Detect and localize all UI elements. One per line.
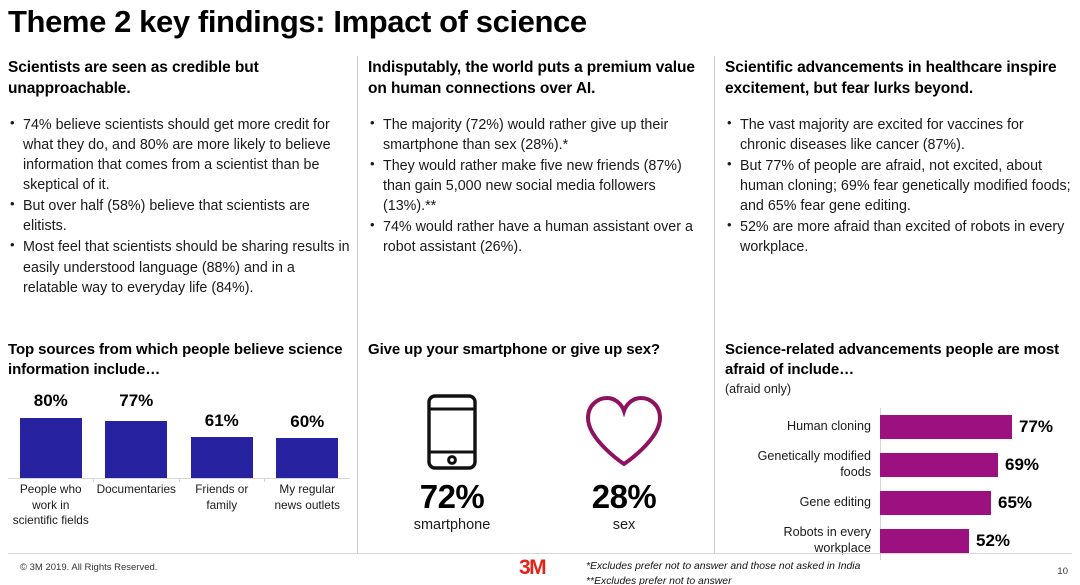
list-item: Most feel that scientists should be shar… (8, 237, 350, 297)
bar-track: 77% (880, 415, 1073, 439)
bar-value-label: 60% (265, 412, 351, 432)
bar-group: 80% (8, 392, 94, 478)
table-row: Robots in every workplace 52% (725, 522, 1073, 560)
bar-rect (880, 453, 998, 477)
column-2-heading: Indisputably, the world puts a premium v… (368, 58, 708, 100)
column-divider-1 (357, 56, 358, 553)
panel-most-afraid-subheading: (afraid only) (725, 381, 1073, 397)
bar-category-label: Gene editing (725, 495, 880, 511)
list-item: But 77% of people are afraid, not excite… (725, 156, 1073, 216)
column-1-bullet-list: 74% believe scientists should get more c… (8, 115, 350, 298)
column-2: Indisputably, the world puts a premium v… (368, 58, 708, 259)
panel-most-afraid: Science-related advancements people are … (725, 340, 1073, 560)
panel-smartphone-heading: Give up your smartphone or give up sex? (368, 340, 708, 360)
footnotes: *Excludes prefer not to answer and those… (586, 559, 860, 585)
page-number: 10 (1057, 566, 1068, 577)
bar-rect (880, 529, 969, 553)
icon-cell-smartphone: 72% smartphone (387, 392, 517, 533)
column-2-bullet-list: The majority (72%) would rather give up … (368, 115, 708, 258)
panel-most-afraid-heading: Science-related advancements people are … (725, 340, 1073, 380)
bar-value-label: 69% (1005, 455, 1039, 475)
footnote-2: **Excludes prefer not to answer (586, 574, 860, 585)
vertical-bar-chart: 80% 77% 61% 60% (8, 392, 350, 537)
bar-value-label: 61% (179, 411, 265, 431)
column-3-bullet-list: The vast majority are excited for vaccin… (725, 115, 1073, 258)
bar-value-label: 65% (998, 493, 1032, 513)
bar-category-label: Human cloning (725, 419, 880, 435)
bar-rect (105, 421, 167, 478)
smartphone-percent: 72% (387, 478, 517, 516)
footer-divider (8, 553, 1072, 554)
bar-rect (880, 415, 1012, 439)
table-row: Human cloning 77% (725, 408, 1073, 446)
brand-logo-3m: 3M (519, 556, 545, 580)
bar-rect (276, 438, 338, 478)
column-divider-2 (714, 56, 715, 553)
category-label: Friends or family (179, 482, 265, 530)
sex-label: sex (559, 517, 689, 533)
bar-track: 69% (880, 453, 1073, 477)
panel-top-sources-heading: Top sources from which people believe sc… (8, 340, 350, 380)
category-label: People who work in scientific fields (8, 482, 94, 530)
vertical-bar-plot: 80% 77% 61% 60% (8, 392, 350, 478)
smartphone-label: smartphone (387, 517, 517, 533)
list-item: They would rather make five new friends … (368, 156, 708, 216)
bar-value-label: 52% (976, 531, 1010, 551)
list-item: But over half (58%) believe that scienti… (8, 196, 350, 236)
panel-smartphone-vs-sex: Give up your smartphone or give up sex? … (368, 340, 708, 533)
table-row: Genetically modified foods 69% (725, 446, 1073, 484)
list-item: The majority (72%) would rather give up … (368, 115, 708, 155)
bar-category-label: Robots in every workplace (725, 525, 880, 556)
column-1-heading: Scientists are seen as credible but unap… (8, 58, 350, 100)
bar-group: 77% (94, 392, 180, 478)
panel-top-sources: Top sources from which people believe sc… (8, 340, 350, 537)
column-3-heading: Scientific advancements in healthcare in… (725, 58, 1073, 100)
table-row: Gene editing 65% (725, 484, 1073, 522)
category-labels: People who work in scientific fields Doc… (8, 482, 350, 530)
smartphone-icon (387, 392, 517, 472)
bar-rect (20, 418, 82, 478)
column-3: Scientific advancements in healthcare in… (725, 58, 1073, 259)
list-item: The vast majority are excited for vaccin… (725, 115, 1073, 155)
horizontal-bar-chart: Human cloning 77% Genetically modified f… (725, 408, 1073, 560)
category-label: Documentaries (94, 482, 180, 530)
icon-comparison: 72% smartphone 28% sex (368, 392, 708, 533)
bar-group: 60% (265, 392, 351, 478)
bar-value-label: 77% (94, 391, 180, 411)
slide-root: Theme 2 key findings: Impact of science … (0, 0, 1080, 585)
heart-icon (559, 392, 689, 472)
category-label: My regular news outlets (265, 482, 351, 530)
bar-value-label: 77% (1019, 417, 1053, 437)
bar-track: 65% (880, 491, 1073, 515)
bar-rect (880, 491, 991, 515)
bar-group: 61% (179, 392, 265, 478)
column-1: Scientists are seen as credible but unap… (8, 58, 350, 299)
bar-value-label: 80% (8, 391, 94, 411)
bar-track: 52% (880, 529, 1073, 553)
list-item: 74% would rather have a human assistant … (368, 217, 708, 257)
bar-rect (191, 437, 253, 478)
footnote-1: *Excludes prefer not to answer and those… (586, 559, 860, 574)
page-title: Theme 2 key findings: Impact of science (8, 4, 587, 40)
icon-cell-sex: 28% sex (559, 392, 689, 533)
sex-percent: 28% (559, 478, 689, 516)
copyright-text: © 3M 2019. All Rights Reserved. (20, 562, 157, 573)
list-item: 74% believe scientists should get more c… (8, 115, 350, 196)
list-item: 52% are more afraid than excited of robo… (725, 217, 1073, 257)
bar-category-label: Genetically modified foods (725, 449, 880, 480)
